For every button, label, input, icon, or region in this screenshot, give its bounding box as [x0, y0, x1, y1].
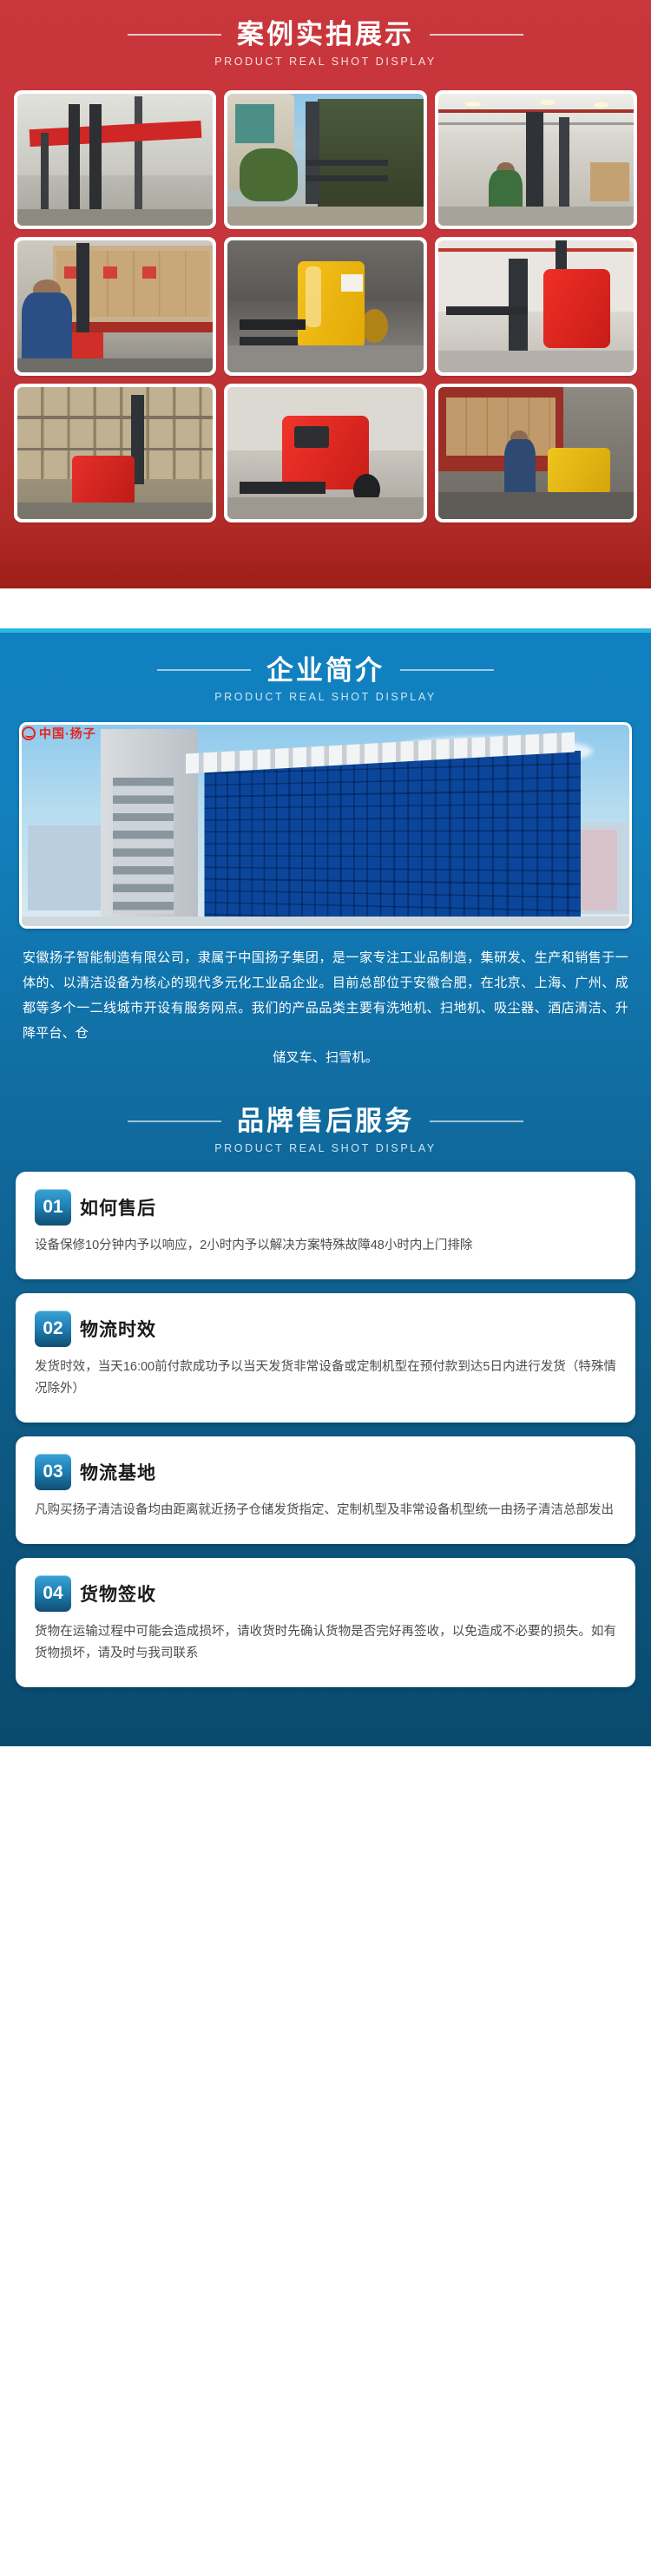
title-rule-right: [430, 34, 523, 36]
service-card-number: 03: [35, 1454, 71, 1490]
service-title-cn: 品牌售后服务: [237, 1106, 414, 1137]
service-card-top: 03 物流基地: [35, 1454, 616, 1490]
building-photo-frame[interactable]: 中国·扬子: [19, 722, 632, 929]
photo-5: [227, 240, 423, 372]
service-card-title: 物流基地: [80, 1459, 156, 1485]
photo-cell-8[interactable]: [224, 384, 426, 522]
service-title-en: PRODUCT REAL SHOT DISPLAY: [0, 1142, 651, 1154]
company-rule-right: [400, 669, 494, 671]
company-footer-space: [0, 1713, 651, 1746]
showcase-header: 案例实拍展示 PRODUCT REAL SHOT DISPLAY: [0, 19, 651, 68]
service-card[interactable]: 01 如何售后 设备保修10分钟内予以响应，2小时内予以解决方案特殊故障48小时…: [16, 1172, 635, 1279]
company-rule-left: [157, 669, 251, 671]
showcase-title-en: PRODUCT REAL SHOT DISPLAY: [0, 56, 651, 68]
service-title-row: 品牌售后服务: [0, 1106, 651, 1137]
photo-cell-3[interactable]: [435, 90, 637, 229]
service-card-title: 物流时效: [80, 1316, 156, 1342]
photo-9: [438, 387, 634, 519]
service-card[interactable]: 04 货物签收 货物在运输过程中可能会造成损坏，请收货时先确认货物是否完好再签收…: [16, 1558, 635, 1687]
service-card-number: 02: [35, 1311, 71, 1347]
service-rule-right: [430, 1120, 523, 1122]
company-title-en: PRODUCT REAL SHOT DISPLAY: [0, 691, 651, 703]
service-card-body: 凡购买扬子清洁设备均由距离就近扬子仓储发货指定、定制机型及非常设备机型统一由扬子…: [35, 1500, 616, 1521]
photo-8: [227, 387, 423, 519]
photo-cell-5[interactable]: [224, 237, 426, 376]
building-photo-wrap: 中国·扬子: [0, 703, 651, 929]
service-card-top: 02 物流时效: [35, 1311, 616, 1347]
section-divider-gap: [0, 588, 651, 628]
company-title-row: 企业简介: [0, 655, 651, 687]
photo-7: [17, 387, 213, 519]
service-card[interactable]: 02 物流时效 发货时效，当天16:00前付款成功予以当天发货非常设备或定制机型…: [16, 1293, 635, 1423]
service-card-top: 04 货物签收: [35, 1575, 616, 1612]
photo-2: [227, 94, 423, 226]
photo-6: [438, 240, 634, 372]
company-section: 企业简介 PRODUCT REAL SHOT DISPLAY 中国·扬子: [0, 633, 651, 1746]
showcase-section: 案例实拍展示 PRODUCT REAL SHOT DISPLAY: [0, 0, 651, 588]
showcase-title-row: 案例实拍展示: [0, 19, 651, 50]
photo-1: [17, 94, 213, 226]
product-detail-page: 案例实拍展示 PRODUCT REAL SHOT DISPLAY: [0, 0, 651, 1746]
company-header: 企业简介 PRODUCT REAL SHOT DISPLAY: [0, 655, 651, 704]
photo-cell-9[interactable]: [435, 384, 637, 522]
yangzi-logo-text: 中国·扬子: [39, 725, 96, 742]
photo-cell-4[interactable]: [14, 237, 216, 376]
service-card[interactable]: 03 物流基地 凡购买扬子清洁设备均由距离就近扬子仓储发货指定、定制机型及非常设…: [16, 1436, 635, 1544]
service-card-title: 货物签收: [80, 1580, 156, 1607]
service-rule-left: [128, 1120, 221, 1122]
service-header: 品牌售后服务 PRODUCT REAL SHOT DISPLAY: [0, 1094, 651, 1154]
photo-cell-7[interactable]: [14, 384, 216, 522]
service-card-body: 货物在运输过程中可能会造成损坏，请收货时先确认货物是否完好再签收，以免造成不必要…: [35, 1621, 616, 1665]
service-card-top: 01 如何售后: [35, 1189, 616, 1226]
service-card-list: 01 如何售后 设备保修10分钟内予以响应，2小时内予以解决方案特殊故障48小时…: [0, 1154, 651, 1713]
showcase-footer-space: [0, 535, 651, 588]
company-description-main: 安徽扬子智能制造有限公司，隶属于中国扬子集团，是一家专注工业品制造，集研发、生产…: [23, 950, 628, 1040]
service-card-number: 04: [35, 1575, 71, 1612]
company-title-cn: 企业简介: [266, 655, 385, 687]
company-description: 安徽扬子智能制造有限公司，隶属于中国扬子集团，是一家专注工业品制造，集研发、生产…: [0, 929, 651, 1094]
company-description-tail: 储叉车、扫雪机。: [23, 1046, 628, 1071]
service-card-number: 01: [35, 1189, 71, 1226]
photo-cell-6[interactable]: [435, 237, 637, 376]
showcase-title-cn: 案例实拍展示: [237, 19, 414, 50]
photo-cell-2[interactable]: [224, 90, 426, 229]
photo-cell-1[interactable]: [14, 90, 216, 229]
title-rule-left: [128, 34, 221, 36]
photo-3: [438, 94, 634, 226]
service-card-title: 如何售后: [80, 1194, 156, 1220]
service-card-body: 设备保修10分钟内予以响应，2小时内予以解决方案特殊故障48小时内上门排除: [35, 1235, 616, 1257]
photo-4: [17, 240, 213, 372]
photo-grid: [0, 68, 651, 535]
service-card-body: 发货时效，当天16:00前付款成功予以当天发货非常设备或定制机型在预付款到达5日…: [35, 1357, 616, 1400]
yangzi-mark-icon: [22, 726, 36, 740]
building-photo: 中国·扬子: [22, 725, 629, 926]
